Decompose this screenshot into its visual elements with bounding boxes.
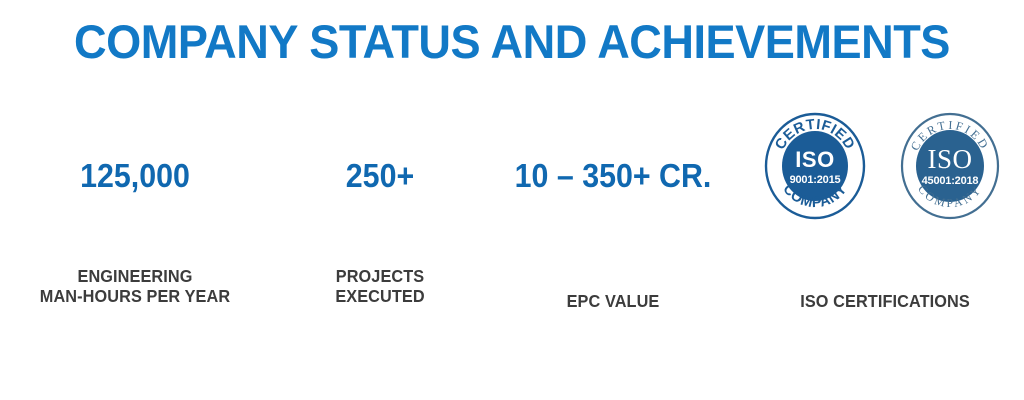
stat-label-line-2: MAN-HOURS PER YEAR <box>19 286 252 306</box>
company-status-slide: COMPANY STATUS AND ACHIEVEMENTS 125,000 … <box>0 0 1024 400</box>
svg-text:ISO: ISO <box>795 147 834 172</box>
iso-badges-group: CERTIFIED COMPANY ISO 9001:2015 <box>757 111 1005 221</box>
stat-label-projects-executed: PROJECTS EXECUTED <box>293 266 468 306</box>
stat-label-line-1: ENGINEERING <box>19 266 252 286</box>
stat-label-line-1: PROJECTS <box>293 266 468 286</box>
stat-label-engineering-hours: ENGINEERING MAN-HOURS PER YEAR <box>19 266 252 306</box>
stat-value-epc-value: 10 – 350+ CR. <box>503 159 724 192</box>
stat-value-projects-executed: 250+ <box>297 159 463 192</box>
stat-label-line-2: EXECUTED <box>293 286 468 306</box>
iso-9001-badge: CERTIFIED COMPANY ISO 9001:2015 <box>763 111 867 221</box>
svg-text:ISO: ISO <box>927 144 972 174</box>
svg-text:9001:2015: 9001:2015 <box>790 174 841 186</box>
iso-45001-badge: CERTIFIED COMPANY ISO 45001:2018 <box>899 111 1001 221</box>
stat-value-engineering-hours: 125,000 <box>43 159 227 192</box>
page-title: COMPANY STATUS AND ACHIEVEMENTS <box>20 18 1003 65</box>
svg-text:45001:2018: 45001:2018 <box>922 175 979 187</box>
stat-label-epc-value: EPC VALUE <box>508 291 718 311</box>
stat-label-iso-certifications: ISO CERTIFICATIONS <box>769 291 1002 311</box>
